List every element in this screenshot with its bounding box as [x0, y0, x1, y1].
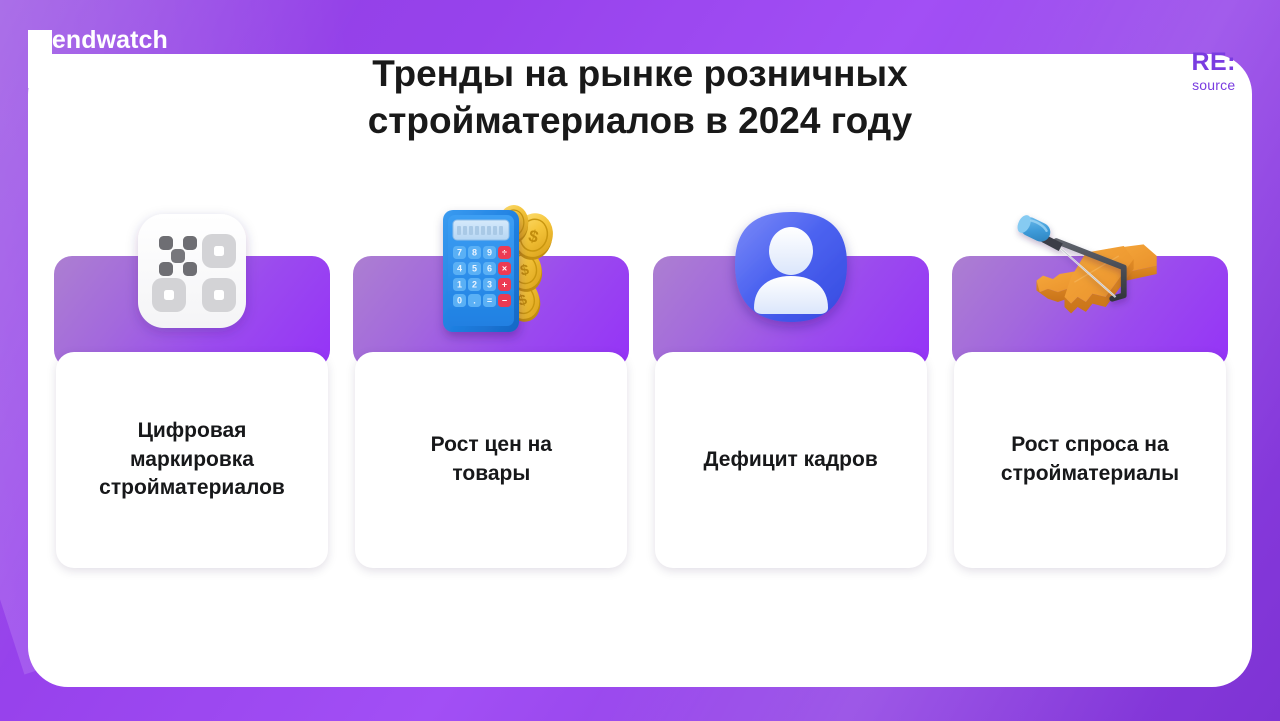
svg-text:5: 5 [472, 264, 477, 274]
trend-card-text-line-2: маркировка [99, 446, 285, 475]
svg-text:=: = [487, 296, 492, 306]
trend-card-body: Цифровая маркировка стройматериалов [56, 352, 328, 568]
svg-text:7: 7 [457, 248, 462, 258]
svg-text:8: 8 [472, 248, 477, 258]
trend-card-text-line-1: Рост цен на [431, 431, 552, 460]
page-title-line-1: Тренды на рынке розничных [260, 50, 1020, 97]
trend-card-list: Цифровая маркировка стройматериалов [54, 256, 1228, 568]
brand-logo-main: RE: [1191, 50, 1236, 75]
trend-card-text: Рост спроса на стройматериалы [1001, 431, 1179, 488]
trend-card-text: Цифровая маркировка стройматериалов [99, 417, 285, 503]
trend-card-text: Дефицит кадров [704, 446, 878, 475]
svg-text:−: − [502, 296, 507, 306]
trend-card[interactable]: Рост спроса на стройматериалы [952, 256, 1228, 568]
trend-card-body: Дефицит кадров [655, 352, 927, 568]
trend-card-text-line-3: стройматериалов [99, 474, 285, 503]
calculator-coins-icon: $ $ $ [421, 204, 561, 344]
trendwatch-tab: Trendwatch [0, 18, 206, 62]
trend-card-body: Рост спроса на стройматериалы [954, 352, 1226, 568]
trend-card-text-line-1: Дефицит кадров [704, 446, 878, 475]
trend-card-text: Рост цен на товары [431, 431, 552, 488]
svg-text:3: 3 [487, 280, 492, 290]
trend-card[interactable]: Дефицит кадров [653, 256, 929, 568]
svg-text:1: 1 [457, 280, 462, 290]
svg-text:6: 6 [487, 264, 492, 274]
trend-card-text-line-2: стройматериалы [1001, 460, 1179, 489]
svg-text:+: + [502, 280, 507, 290]
svg-text:.: . [474, 296, 477, 306]
user-person-icon [721, 204, 861, 344]
svg-text:÷: ÷ [502, 248, 507, 258]
trend-card-body: Рост цен на товары [355, 352, 627, 568]
trend-card[interactable]: $ $ $ [353, 256, 629, 568]
calculator-body: 7 8 9 ÷ 4 5 6 × 1 2 3 [443, 210, 519, 332]
hacksaw-planks-icon [1020, 204, 1160, 344]
svg-text:2: 2 [472, 280, 477, 290]
brand-logo: RE: source [1191, 50, 1236, 92]
brand-logo-sub: source [1191, 78, 1236, 92]
svg-text:0: 0 [457, 296, 462, 306]
svg-text:×: × [502, 264, 507, 274]
qr-code-icon [122, 204, 262, 344]
page-title: Тренды на рынке розничных стройматериало… [260, 50, 1020, 145]
trend-card-text-line-2: товары [431, 460, 552, 489]
slide-canvas: Trendwatch RE: source Тренды на рынке ро… [0, 0, 1280, 721]
trend-card[interactable]: Цифровая маркировка стройматериалов [54, 256, 330, 568]
trend-card-text-line-1: Цифровая [99, 417, 285, 446]
svg-text:4: 4 [457, 264, 462, 274]
trend-card-text-line-1: Рост спроса на [1001, 431, 1179, 460]
trendwatch-tab-label: Trendwatch [28, 26, 168, 55]
page-title-line-2: стройматериалов в 2024 году [260, 97, 1020, 144]
svg-text:9: 9 [487, 248, 492, 258]
